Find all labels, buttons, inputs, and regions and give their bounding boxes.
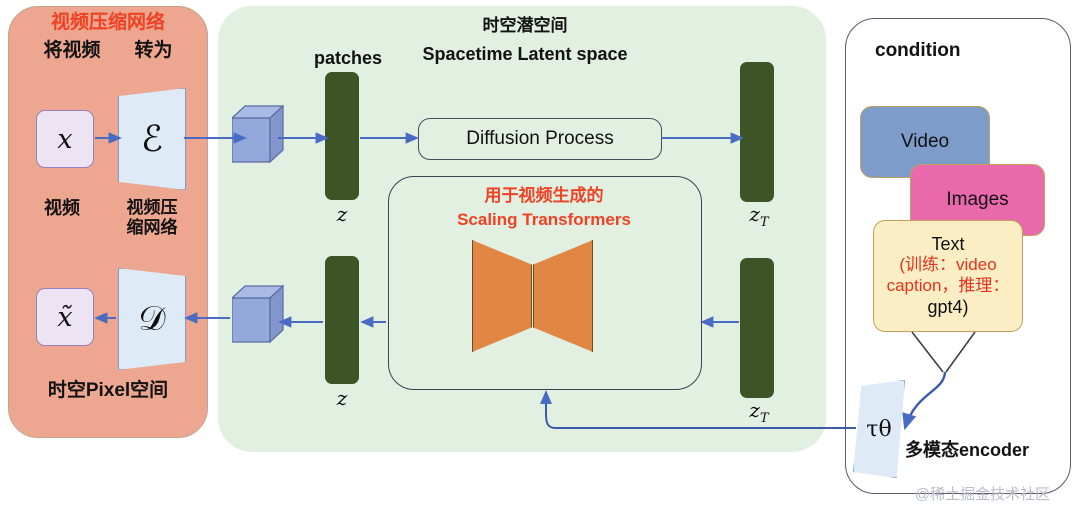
zt-label-bottom-base: 𝑧 <box>749 398 760 422</box>
noisy-latent-bar-top <box>740 62 774 202</box>
transformer-title-cn: 用于视频生成的 <box>388 186 700 206</box>
latent-panel-title-cn: 时空潜空间 <box>380 16 670 36</box>
diffusion-process-box: Diffusion Process <box>418 118 662 160</box>
zt-label-top-base: 𝑧 <box>749 202 760 226</box>
multimodal-encoder-caption: 多模态encoder <box>905 440 1075 461</box>
latent-patch-bar-top <box>325 72 359 200</box>
patches-label: patches <box>298 48 398 69</box>
zt-label-top: 𝑧T <box>733 202 785 230</box>
condition-card-text-detail-line3: gpt4) <box>927 297 968 319</box>
pixel-space-caption: 时空Pixel空间 <box>8 380 208 402</box>
pixel-panel-subtitle-left: 将视频 <box>43 40 100 62</box>
zt-label-bottom-subscript: T <box>760 411 769 426</box>
pixel-panel-title: 视频压缩网络 <box>8 12 208 34</box>
latent-panel-title-en: Spacetime Latent space <box>360 44 690 65</box>
condition-card-text-label: Text <box>931 234 964 256</box>
condition-card-text: Text (训练：video caption，推理： gpt4) <box>873 220 1023 332</box>
condition-card-text-detail-line2: caption，推理： <box>887 276 1010 297</box>
zt-label-bottom: 𝑧T <box>733 398 785 426</box>
condition-card-text-detail-line1: (训练：video <box>899 255 996 276</box>
latent-cube-bottom <box>232 284 284 346</box>
latent-patch-bar-bottom <box>325 256 359 384</box>
condition-panel-title: condition <box>855 40 1065 62</box>
z-label-bottom: 𝑧 <box>316 386 368 410</box>
zt-label-top-subscript: T <box>760 215 769 230</box>
noisy-latent-bar-bottom <box>740 258 774 398</box>
input-video-caption: 视频 <box>24 198 100 219</box>
watermark: @稀土掘金技术社区 <box>890 486 1075 504</box>
output-video-tensor-box: 𝑥̃ <box>36 288 94 346</box>
encoder-trapezoid: ℰ <box>118 88 186 190</box>
z-label-top: 𝑧 <box>316 202 368 226</box>
diagram-canvas: 视频压缩网络 将视频转为 𝑥 ℰ 视频 视频压 缩网络 𝑥̃ 𝒟 时空Pixel… <box>0 0 1080 513</box>
transformer-title-en: Scaling Transformers <box>388 210 700 230</box>
input-video-tensor-box: 𝑥 <box>36 110 94 168</box>
decoder-trapezoid: 𝒟 <box>118 268 186 370</box>
latent-cube-top <box>232 104 284 166</box>
pixel-panel-subtitle-right: 转为 <box>135 40 173 62</box>
pixel-panel-subtitle: 将视频转为 <box>8 40 208 62</box>
encoder-caption: 视频压 缩网络 <box>104 198 200 238</box>
multimodal-encoder-trapezoid: τθ <box>853 380 905 478</box>
